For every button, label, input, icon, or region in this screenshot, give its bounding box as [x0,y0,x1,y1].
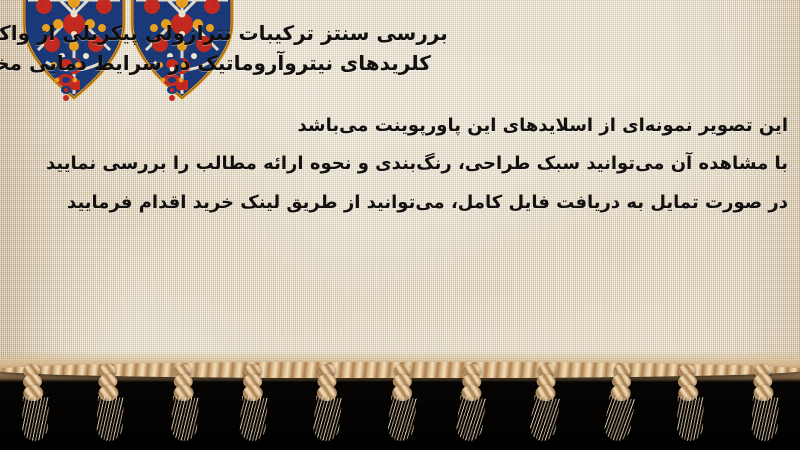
carpet-tassel [165,359,202,446]
carpet-tassel [90,359,128,447]
carpet-tassel [744,359,782,447]
carpet-tassel [452,359,489,446]
carpet-tassel [14,359,54,447]
carpet-tassels [0,360,800,448]
slide-body-line-3: در صورت تمایل به دریافت فایل کامل، می‌تو… [67,190,788,216]
slide-body-line-1: این تصویر نمونه‌ای از اسلایدهای این پاور… [297,113,788,139]
carpet-tassel [600,359,640,447]
slide-canvas: بررسی سنتز ترکیبات تترازولی پیکریلی از و… [0,0,800,450]
slide-body-line-2: با مشاهده آن می‌توانید سبک طراحی، رنگ‌بن… [46,151,788,177]
carpet-tassel [384,360,419,447]
slide-title-line-1: بررسی سنتز ترکیبات تترازولی پیکریلی از و… [0,18,788,48]
slide-title-line-2: کلریدهای نیتروآروماتیک در شرایط دمایی مخ… [0,48,788,78]
carpet-tassel [310,360,344,446]
carpet-tassel [235,360,270,447]
carpet-tassel [526,359,564,447]
carpet-tassel [669,359,709,447]
